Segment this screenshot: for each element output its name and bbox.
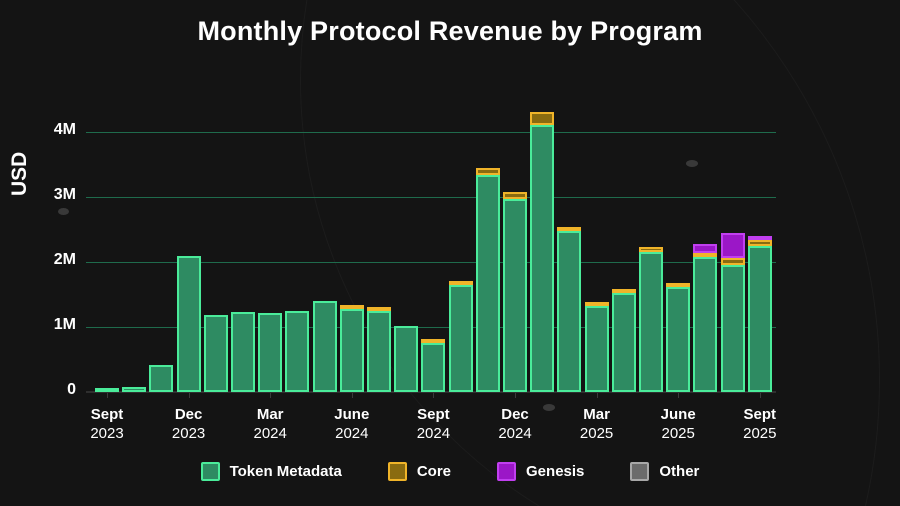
x-tick-label: Sept2025 [715, 406, 805, 444]
bar-segment-core[interactable] [421, 339, 445, 343]
x-tick-year: 2025 [633, 425, 723, 444]
bar-segment-token-metadata[interactable] [421, 343, 445, 392]
x-tick-mark [189, 393, 190, 398]
bar-feb-2024[interactable] [231, 100, 255, 392]
x-tick-mark [433, 393, 434, 398]
bar-may-2025[interactable] [639, 100, 663, 392]
bar-segment-token-metadata[interactable] [394, 326, 418, 392]
legend-item-genesis[interactable]: Genesis [497, 462, 584, 481]
x-tick-month: Dec [470, 406, 560, 425]
bar-jan-2025[interactable] [530, 100, 554, 392]
bar-segment-core[interactable] [503, 192, 527, 199]
x-tick-year: 2024 [470, 425, 560, 444]
bar-segment-genesis[interactable] [693, 244, 717, 252]
x-tick-year: 2024 [307, 425, 397, 444]
y-tick-label: 0 [14, 381, 76, 399]
x-tick-label: Mar2024 [225, 406, 315, 444]
bar-segment-token-metadata[interactable] [340, 309, 364, 392]
x-tick-label: Dec2024 [470, 406, 560, 444]
bar-june-2025[interactable] [666, 100, 690, 392]
bar-segment-token-metadata[interactable] [177, 256, 201, 392]
bar-segment-token-metadata[interactable] [367, 311, 391, 392]
x-tick-month: Sept [715, 406, 805, 425]
bar-segment-token-metadata[interactable] [721, 265, 745, 393]
bar-segment-token-metadata[interactable] [476, 175, 500, 392]
bar-segment-token-metadata[interactable] [449, 285, 473, 392]
bar-segment-token-metadata[interactable] [258, 313, 282, 392]
x-tick-month: Sept [62, 406, 152, 425]
x-tick-mark [597, 393, 598, 398]
bar-segment-core[interactable] [449, 281, 473, 285]
plot-area [86, 100, 776, 392]
x-tick-label: June2024 [307, 406, 397, 444]
y-tick-label: 1M [14, 316, 76, 334]
x-tick-label: June2025 [633, 406, 723, 444]
bar-jan-2024[interactable] [204, 100, 228, 392]
legend-swatch-icon [497, 462, 516, 481]
legend-swatch-icon [201, 462, 220, 481]
legend-item-token-metadata[interactable]: Token Metadata [201, 462, 342, 481]
chart-legend: Token MetadataCoreGenesisOther [0, 462, 900, 481]
bar-oct-2023[interactable] [122, 100, 146, 392]
bar-nov-2023[interactable] [149, 100, 173, 392]
bar-segment-core[interactable] [340, 305, 364, 309]
x-tick-year: 2024 [225, 425, 315, 444]
bar-segment-token-metadata[interactable] [639, 252, 663, 392]
bar-segment-token-metadata[interactable] [503, 199, 527, 392]
x-tick-year: 2025 [552, 425, 642, 444]
x-tick-label: Mar2025 [552, 406, 642, 444]
bar-mar-2025[interactable] [585, 100, 609, 392]
x-tick-label: Sept2023 [62, 406, 152, 444]
x-tick-month: June [633, 406, 723, 425]
bar-segment-core[interactable] [612, 289, 636, 293]
bar-segment-genesis[interactable] [721, 233, 745, 258]
bar-oct-2024[interactable] [449, 100, 473, 392]
x-tick-month: Mar [225, 406, 315, 425]
bar-dec-2024[interactable] [503, 100, 527, 392]
bar-segment-core[interactable] [639, 247, 663, 252]
bar-apr-2025[interactable] [612, 100, 636, 392]
x-tick-year: 2023 [144, 425, 234, 444]
bar-segment-token-metadata[interactable] [693, 257, 717, 392]
bar-june-2024[interactable] [340, 100, 364, 392]
bar-segment-token-metadata[interactable] [122, 387, 146, 392]
y-tick-label: 2M [14, 251, 76, 269]
bar-july-2025[interactable] [693, 100, 717, 392]
bar-segment-token-metadata[interactable] [666, 287, 690, 392]
chart-title: Monthly Protocol Revenue by Program [0, 16, 900, 47]
bar-segment-token-metadata[interactable] [204, 315, 228, 392]
y-axis-label: USD [8, 152, 32, 196]
x-tick-month: Dec [144, 406, 234, 425]
x-tick-year: 2024 [388, 425, 478, 444]
bar-segment-token-metadata[interactable] [557, 231, 581, 392]
bar-apr-2024[interactable] [285, 100, 309, 392]
bar-sept-2025[interactable] [748, 100, 772, 392]
x-tick-year: 2025 [715, 425, 805, 444]
x-tick-label: Sept2024 [388, 406, 478, 444]
background-dot-2 [58, 208, 69, 215]
bar-segment-token-metadata[interactable] [585, 306, 609, 392]
x-tick-year: 2023 [62, 425, 152, 444]
bar-segment-genesis[interactable] [748, 236, 772, 240]
bar-segment-token-metadata[interactable] [285, 311, 309, 392]
bar-feb-2025[interactable] [557, 100, 581, 392]
x-tick-month: June [307, 406, 397, 425]
bar-may-2024[interactable] [313, 100, 337, 392]
x-tick-month: Sept [388, 406, 478, 425]
x-tick-mark [107, 393, 108, 398]
bar-segment-token-metadata[interactable] [748, 246, 772, 392]
x-tick-mark [678, 393, 679, 398]
legend-label: Other [659, 463, 699, 480]
bar-segment-token-metadata[interactable] [149, 365, 173, 392]
bar-segment-core[interactable] [693, 253, 717, 258]
bar-segment-core[interactable] [367, 307, 391, 311]
legend-label: Token Metadata [230, 463, 342, 480]
x-tick-mark [352, 393, 353, 398]
bar-segment-core[interactable] [585, 302, 609, 306]
bar-segment-token-metadata[interactable] [95, 388, 119, 392]
bar-segment-core[interactable] [557, 227, 581, 231]
bar-nov-2024[interactable] [476, 100, 500, 392]
bar-segment-token-metadata[interactable] [231, 312, 255, 392]
bar-july-2024[interactable] [367, 100, 391, 392]
x-tick-label: Dec2023 [144, 406, 234, 444]
bar-aug-2024[interactable] [394, 100, 418, 392]
bar-dec-2023[interactable] [177, 100, 201, 392]
legend-swatch-icon [630, 462, 649, 481]
bar-sept-2024[interactable] [421, 100, 445, 392]
bar-segment-core[interactable] [721, 258, 745, 264]
chart-canvas: Monthly Protocol Revenue by Program USD … [0, 0, 900, 506]
legend-swatch-icon [388, 462, 407, 481]
x-tick-month: Mar [552, 406, 642, 425]
bar-segment-core[interactable] [530, 112, 554, 125]
legend-label: Genesis [526, 463, 584, 480]
bar-segment-token-metadata[interactable] [612, 293, 636, 392]
y-tick-label: 4M [14, 121, 76, 139]
bar-aug-2025[interactable] [721, 100, 745, 392]
legend-item-other[interactable]: Other [630, 462, 699, 481]
legend-item-core[interactable]: Core [388, 462, 451, 481]
x-tick-mark [515, 393, 516, 398]
bar-segment-core[interactable] [748, 240, 772, 246]
bar-mar-2024[interactable] [258, 100, 282, 392]
bar-segment-core[interactable] [476, 168, 500, 174]
bar-segment-token-metadata[interactable] [313, 301, 337, 392]
legend-label: Core [417, 463, 451, 480]
bar-segment-core[interactable] [666, 283, 690, 287]
x-tick-mark [270, 393, 271, 398]
bar-sept-2023[interactable] [95, 100, 119, 392]
bar-segment-token-metadata[interactable] [530, 125, 554, 392]
x-tick-mark [760, 393, 761, 398]
